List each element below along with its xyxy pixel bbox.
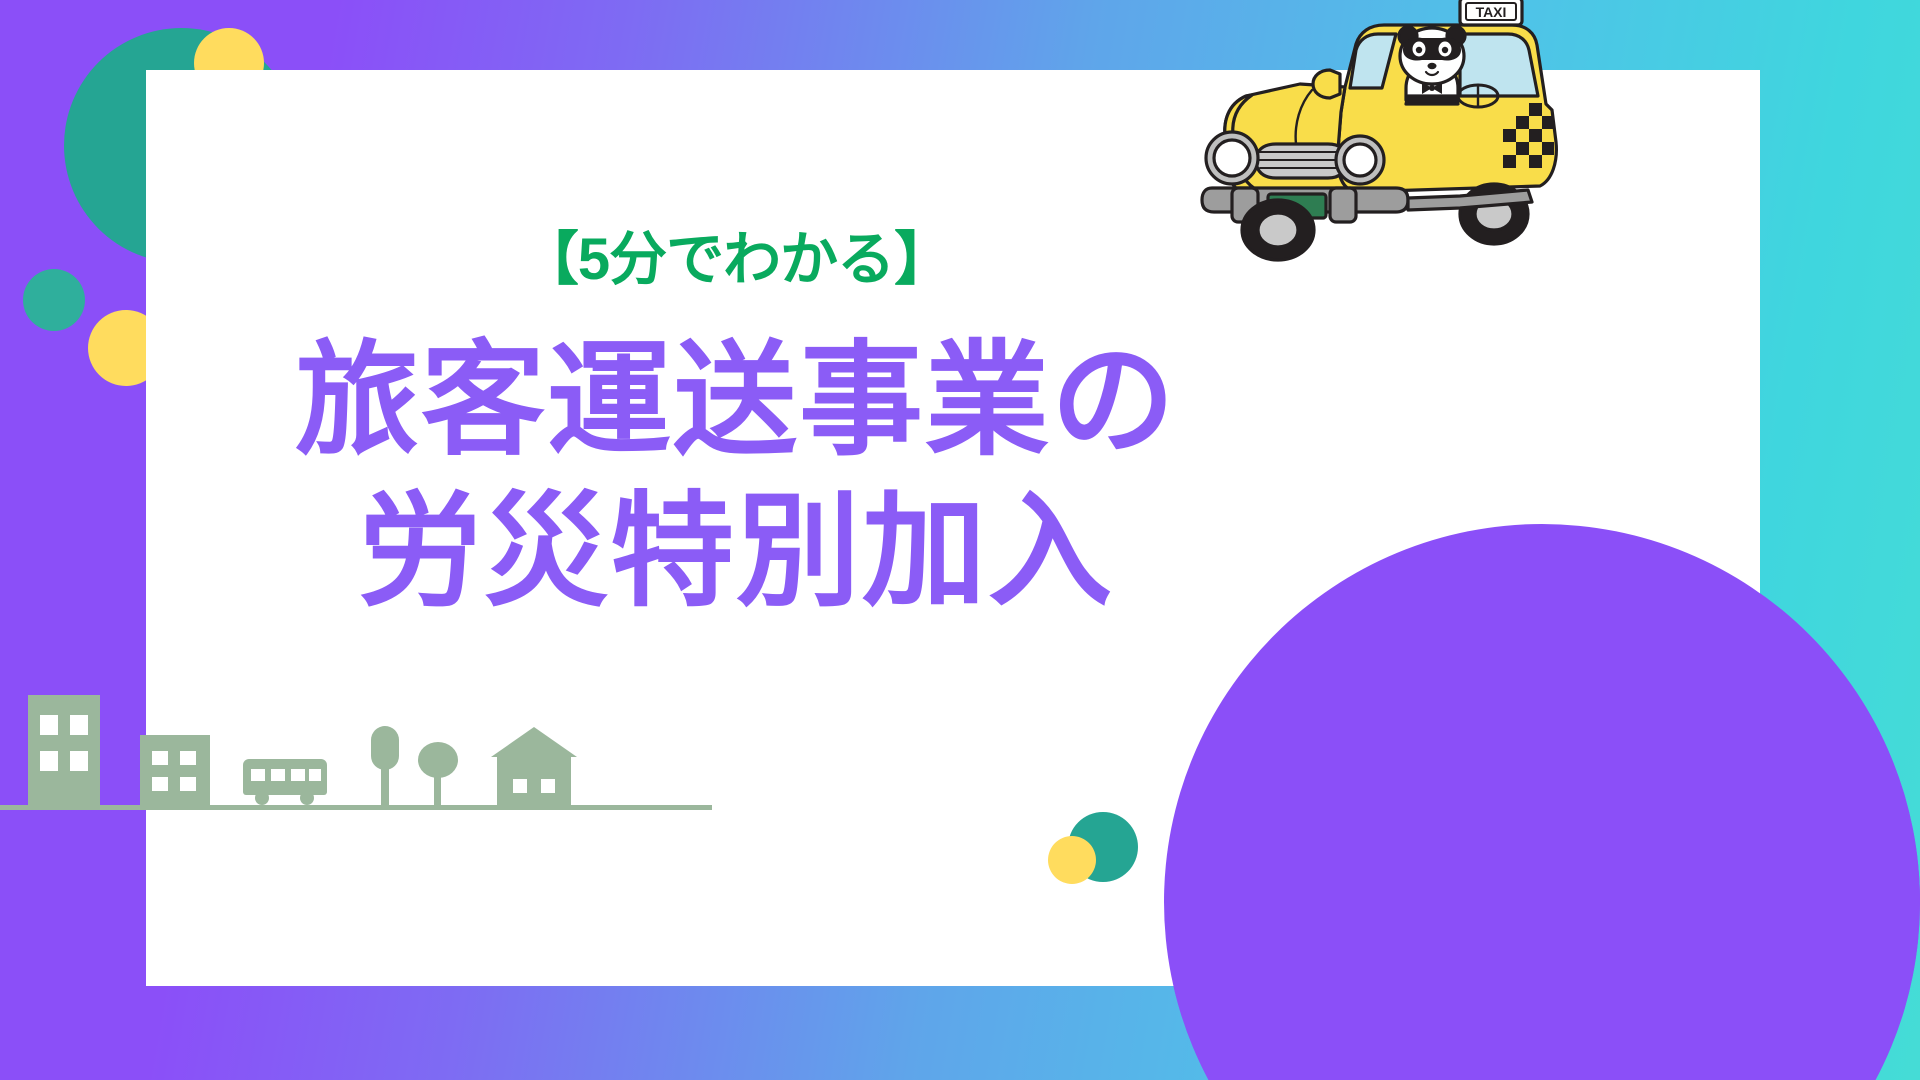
page-title-line-2: 労災特別加入 (146, 477, 1326, 628)
city-skyline-silhouette (0, 690, 720, 820)
taxi-sign-label: TAXI (1476, 4, 1507, 20)
slide-canvas: 【5分でわかる】 旅客運送事業の 労災特別加入 (0, 0, 1920, 1080)
bus-icon (243, 759, 327, 795)
page-title: 旅客運送事業の 労災特別加入 (146, 326, 1326, 629)
tree-crown-1 (371, 726, 399, 770)
eyebrow-label: 【5分でわかる】 (146, 228, 1326, 292)
page-title-line-1: 旅客運送事業の (146, 326, 1326, 477)
tree-crown-2 (418, 742, 458, 778)
ground-line (0, 805, 712, 810)
yellow-taxi-with-panda-driver-icon: TAXI (1160, 0, 1570, 292)
building-short (140, 735, 210, 805)
house-roof (491, 727, 577, 757)
yellow-circle-bottom-icon (1048, 836, 1096, 884)
house-body (497, 757, 571, 805)
teal-circle-small-icon (23, 269, 85, 331)
building-tall (28, 695, 100, 805)
title-group: 【5分でわかる】 旅客運送事業の 労災特別加入 (146, 228, 1326, 628)
